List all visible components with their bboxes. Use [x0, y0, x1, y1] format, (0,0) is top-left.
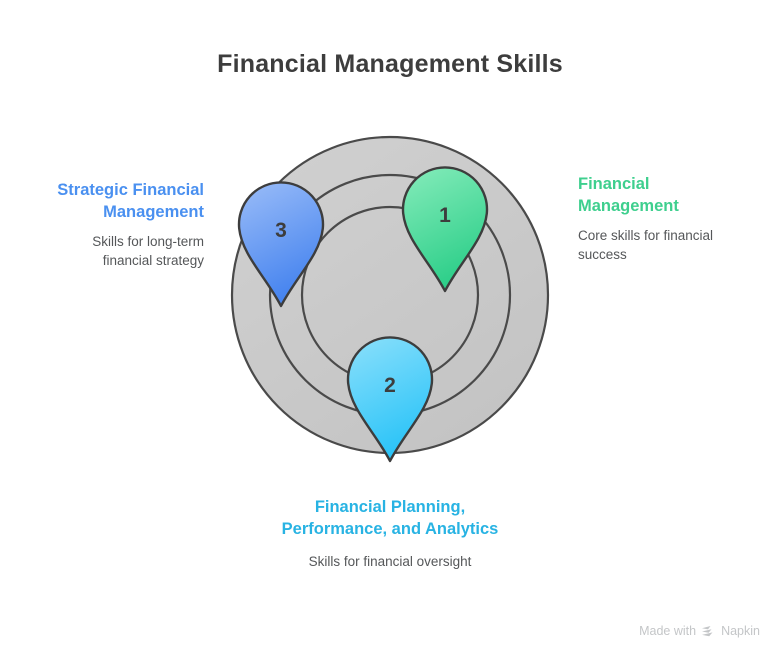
label-financial-management: Financial Management Core skills for fin…: [578, 174, 753, 264]
label-strategic-financial-management: Strategic Financial Management Skills fo…: [40, 180, 204, 270]
label-financial-planning-title: Financial Planning, Performance, and Ana…: [265, 497, 515, 541]
pin-2-number: 2: [384, 374, 396, 397]
footer-made-with-label: Made with: [639, 624, 696, 638]
label-financial-management-title: Financial Management: [578, 174, 753, 218]
pin-1-number: 1: [439, 204, 451, 227]
footer-attribution: Made with Napkin: [639, 624, 760, 638]
label-financial-planning-description: Skills for financial oversight: [265, 553, 515, 572]
napkin-logo-icon: [701, 625, 716, 638]
label-strategic-financial-management-title: Strategic Financial Management: [40, 180, 204, 224]
footer-brand-label: Napkin: [721, 624, 760, 638]
pin-3-number: 3: [275, 219, 287, 242]
label-financial-planning: Financial Planning, Performance, and Ana…: [265, 497, 515, 572]
label-financial-management-description: Core skills for financial success: [578, 227, 753, 264]
label-strategic-financial-management-description: Skills for long-term financial strategy: [40, 233, 204, 270]
diagram-canvas: Financial Management Skills: [0, 0, 780, 654]
